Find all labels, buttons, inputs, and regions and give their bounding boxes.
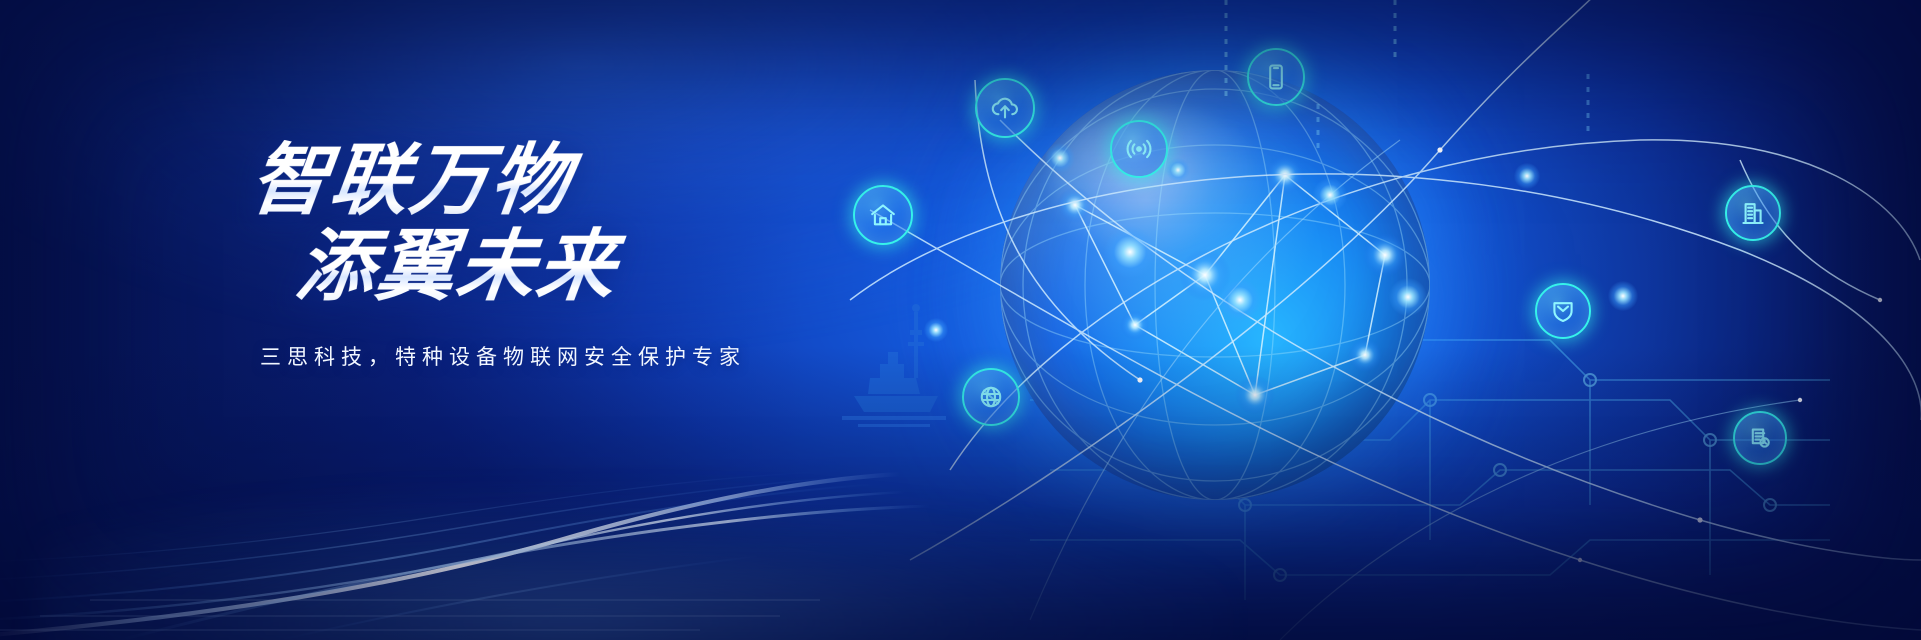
falling-dotted-line: [1225, 0, 1228, 96]
subtitle: 三思科技，特种设备物联网安全保护专家: [260, 341, 886, 371]
cloud-upload-icon[interactable]: [975, 78, 1035, 138]
banner-root: 智联万物 添翼未来 三思科技，特种设备物联网安全保护专家: [0, 0, 1921, 640]
headline-block: 智联万物 添翼未来 三思科技，特种设备物联网安全保护专家: [246, 140, 886, 371]
headline-line-1: 智联万物: [246, 140, 896, 220]
wifi-signal-icon[interactable]: [1110, 120, 1168, 178]
falling-dotted-line: [1317, 104, 1320, 148]
falling-dotted-line: [1394, 0, 1397, 58]
headline-line-2: 添翼未来: [292, 226, 896, 306]
light-trails: [0, 380, 1921, 640]
building-icon[interactable]: [1725, 185, 1781, 241]
smartphone-icon[interactable]: [1247, 48, 1305, 106]
falling-dotted-line: [1587, 74, 1590, 134]
shield-icon[interactable]: [1535, 283, 1591, 339]
